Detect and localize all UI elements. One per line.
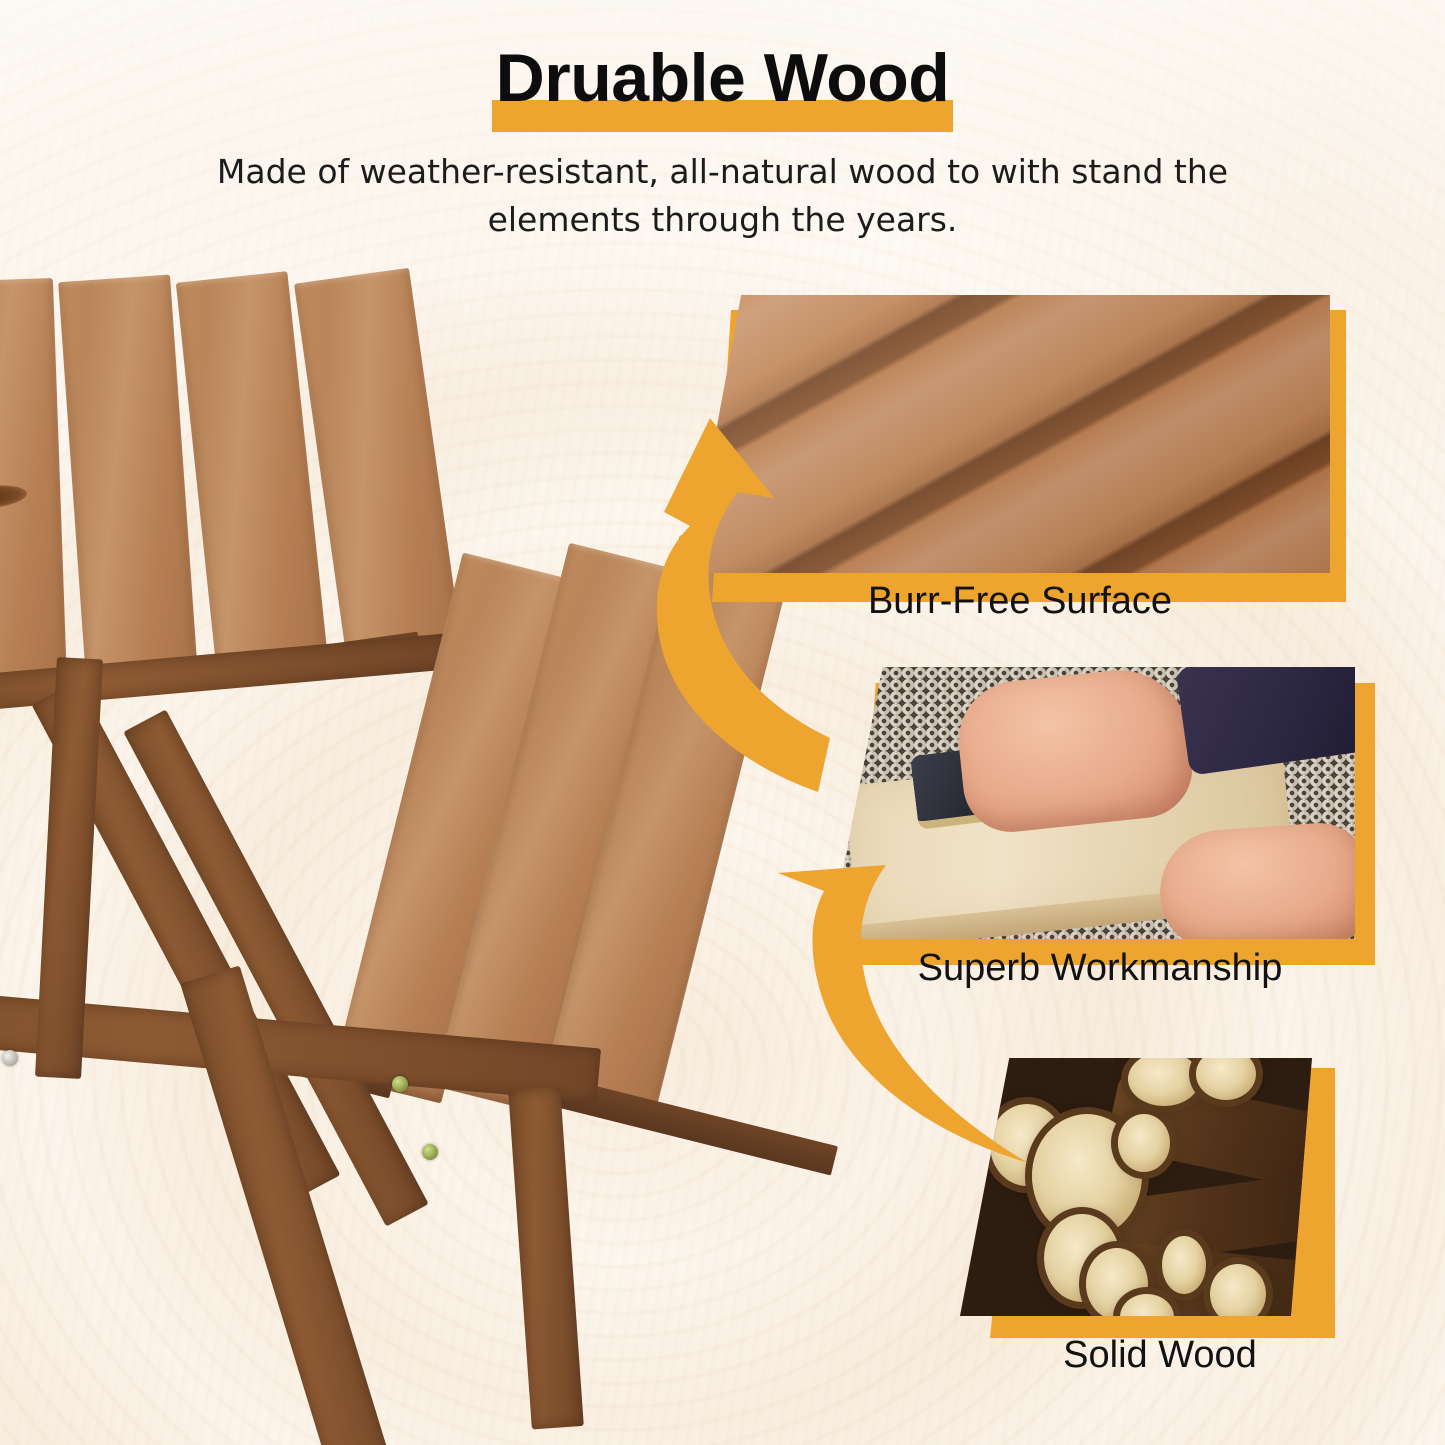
log-end-grain	[1162, 1236, 1206, 1294]
page-subtitle: Made of weather-resistant, all-natural w…	[193, 148, 1253, 244]
arrow-path	[778, 865, 1028, 1163]
log-end-grain	[1118, 1114, 1170, 1172]
callout-caption: Solid Wood	[890, 1334, 1430, 1377]
stretcher-bolt	[392, 1076, 408, 1092]
infographic-canvas: Druable Wood Made of weather-resistant, …	[0, 0, 1445, 1445]
table-leg-rear	[508, 1087, 584, 1430]
stretcher-bolt	[2, 1050, 18, 1066]
page-title: Druable Wood	[496, 44, 950, 112]
arrow-to-burr-free-surface	[578, 400, 878, 800]
arrow-path	[657, 418, 830, 792]
hand-top	[953, 667, 1197, 837]
arrow-to-superb-workmanship	[760, 845, 1060, 1175]
log-end-grain	[1210, 1264, 1266, 1316]
stretcher-bolt	[422, 1144, 438, 1160]
header: Druable Wood Made of weather-resistant, …	[0, 44, 1445, 244]
page-title-wrap: Druable Wood	[486, 44, 960, 112]
table-slat	[58, 275, 198, 682]
